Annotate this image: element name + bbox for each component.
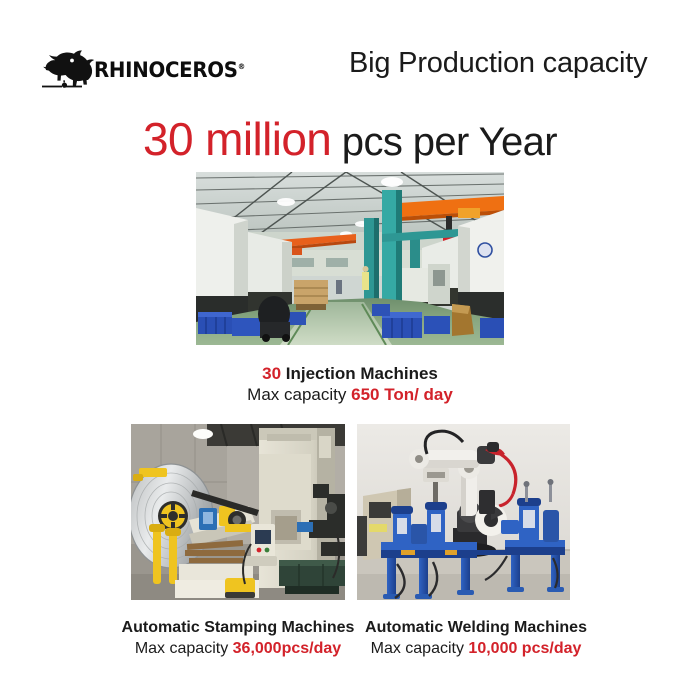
welding-caption-capacity: Max capacity 10,000 pcs/day [353,638,599,659]
welding-caption: Automatic Welding Machines Max capacity … [353,617,599,659]
injection-count: 30 [262,364,281,383]
page-header: RHINOCEROS® Big Production capacity [0,0,700,104]
stamping-capacity-value: 36,000pcs/day [233,640,342,657]
registered-trademark-icon: ® [238,62,245,71]
headline: 30 million pcs per Year [0,112,700,169]
stamping-caption-capacity: Max capacity 36,000pcs/day [115,638,361,659]
welding-caption-title: Automatic Welding Machines [353,617,599,638]
welding-cell-photo [357,424,570,600]
stamping-capacity-label: Max capacity [135,640,233,657]
injection-capacity-value: 650 Ton/ day [351,385,453,404]
injection-workshop-photo [196,172,504,345]
welding-capacity-value: 10,000 pcs/day [468,640,581,657]
injection-title-text: Injection Machines [281,364,438,383]
headline-accent: 30 million [143,113,331,165]
brand-logo: RHINOCEROS® [36,44,214,90]
injection-caption-capacity: Max capacity 650 Ton/ day [190,384,510,405]
page-title: Big Production capacity [349,47,647,80]
stamping-caption-title: Automatic Stamping Machines [115,617,361,638]
welding-capacity-label: Max capacity [371,640,469,657]
headline-plain: pcs per Year [331,120,557,164]
injection-caption-title: 30 Injection Machines [190,363,510,384]
injection-caption: 30 Injection Machines Max capacity 650 T… [190,363,510,405]
injection-capacity-label: Max capacity [247,385,351,404]
brand-wordmark: RHINOCEROS® [94,60,245,81]
stamping-caption: Automatic Stamping Machines Max capacity… [115,617,361,659]
stamping-machine-photo [131,424,345,600]
rhinoceros-logo-icon [36,46,100,90]
